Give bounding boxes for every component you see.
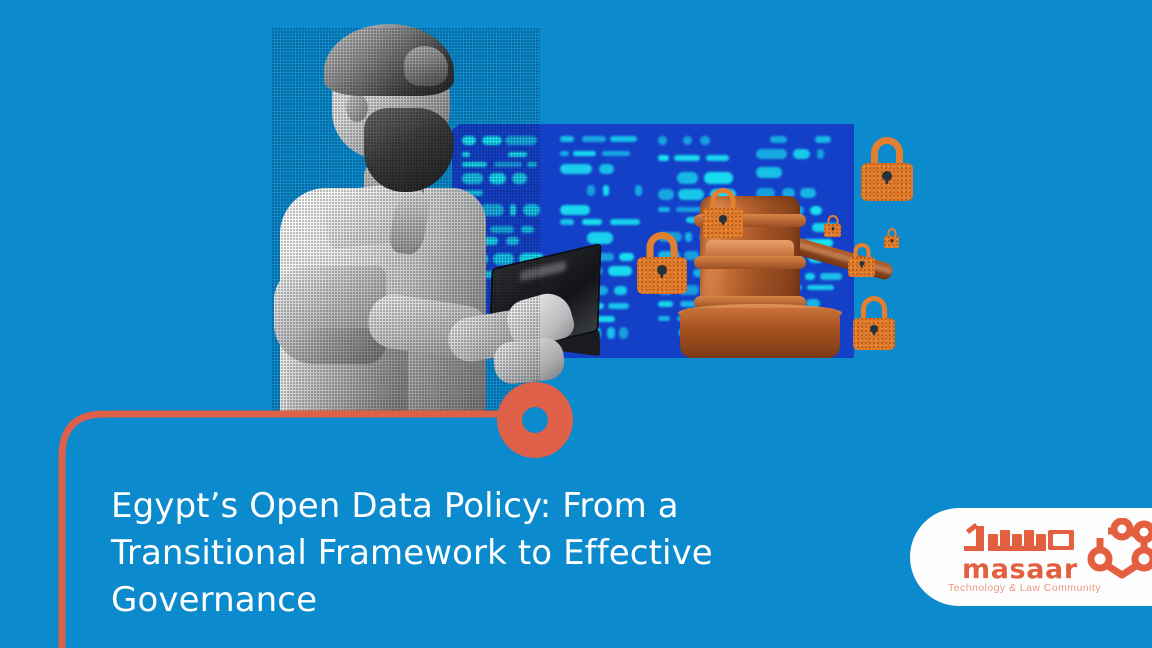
data-block	[793, 149, 810, 159]
gavel-base	[680, 308, 840, 358]
data-block	[756, 167, 782, 178]
data-block	[658, 301, 673, 307]
padlock-body	[824, 224, 841, 237]
padlock-icon	[703, 188, 743, 238]
padlock-keyhole	[890, 239, 893, 242]
padlock-keyhole	[859, 261, 864, 266]
padlock-keyhole	[831, 227, 834, 230]
logo-wordmark: masaar	[962, 554, 1078, 585]
data-block	[658, 189, 674, 200]
data-block	[608, 266, 632, 276]
data-block	[614, 286, 627, 295]
data-block	[817, 149, 824, 159]
data-block	[619, 327, 628, 339]
data-block	[674, 155, 700, 161]
data-block	[610, 219, 640, 225]
data-block	[560, 136, 574, 142]
person-ear	[346, 94, 368, 122]
data-block	[599, 164, 614, 174]
data-block	[582, 136, 606, 142]
cover-card: Egypt’s Open Data Policy: From a Transit…	[0, 0, 1152, 648]
person-hand-lower	[492, 336, 566, 385]
padlock-keyhole	[719, 215, 727, 223]
data-block	[658, 316, 670, 321]
data-block	[635, 185, 642, 196]
data-block	[602, 151, 630, 156]
padlock-body	[703, 208, 743, 238]
donut-ring-icon	[497, 382, 573, 458]
network-nodes-icon	[1086, 518, 1152, 580]
data-block	[619, 253, 634, 261]
data-block	[603, 185, 609, 196]
data-block	[677, 172, 698, 184]
data-block	[607, 327, 615, 339]
data-block	[573, 151, 596, 156]
data-block	[610, 136, 637, 142]
data-block	[700, 136, 710, 145]
data-block	[658, 136, 667, 145]
data-block	[560, 205, 590, 215]
padlock-icon	[884, 228, 899, 248]
padlock-keyhole	[657, 265, 667, 275]
logo[interactable]: masaar Technology & Law Community	[910, 508, 1152, 606]
padlock-keyhole	[870, 325, 878, 333]
data-block	[704, 172, 733, 184]
data-block	[587, 232, 613, 244]
hero-artwork	[0, 0, 1152, 414]
data-block	[582, 219, 602, 225]
padlock-keyhole	[882, 171, 892, 181]
gavel-band	[694, 256, 806, 269]
padlock-body	[884, 236, 899, 248]
data-block	[683, 136, 692, 145]
padlock-icon	[853, 296, 895, 350]
data-block	[658, 155, 669, 161]
data-block	[560, 151, 569, 156]
person-hair-top	[404, 46, 448, 86]
logo-tagline: Technology & Law Community	[948, 582, 1101, 594]
data-block	[560, 164, 592, 174]
data-block	[560, 219, 574, 225]
page-title: Egypt’s Open Data Policy: From a Transit…	[111, 483, 771, 624]
data-block	[706, 155, 729, 161]
padlock-body	[637, 257, 687, 294]
padlock-icon	[861, 137, 913, 201]
data-block	[770, 136, 787, 143]
padlock-icon	[824, 215, 841, 237]
data-block	[587, 185, 595, 196]
padlock-body	[848, 257, 875, 277]
padlock-icon	[848, 243, 875, 277]
padlock-body	[853, 318, 895, 350]
person-halftone-icon	[272, 28, 540, 414]
data-block	[658, 207, 670, 212]
data-block	[756, 149, 787, 159]
person-beard	[364, 108, 454, 192]
padlock-icon	[637, 232, 687, 294]
padlock-body	[861, 163, 913, 201]
data-block	[608, 303, 629, 309]
data-block	[815, 136, 831, 143]
